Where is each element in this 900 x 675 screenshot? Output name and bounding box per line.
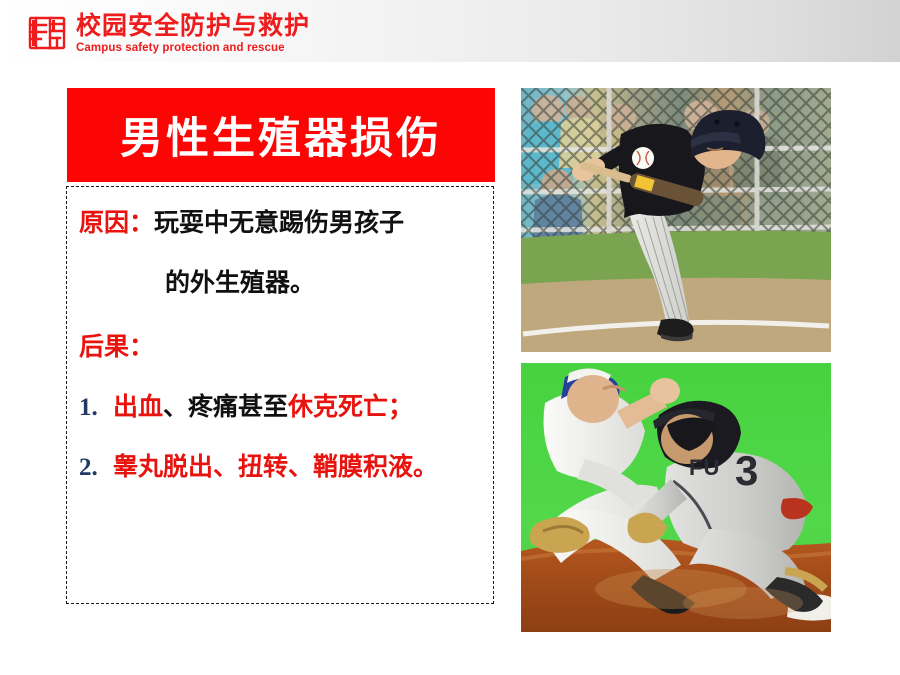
consequence-line: 后果： bbox=[79, 333, 483, 363]
consequence-item-2: 2.睾丸脱出、扭转、鞘膜积液。 bbox=[79, 453, 483, 483]
slide-title: 男性生殖器损伤 bbox=[120, 104, 442, 166]
cause-line-2: 的外生殖器。 bbox=[79, 269, 483, 299]
brand-text-block: 校园安全防护与救护 Campus safety protection and r… bbox=[76, 12, 310, 55]
spacer-3 bbox=[79, 363, 483, 393]
cause-line-1: 原因：玩耍中无意踢伤男孩子 bbox=[79, 209, 483, 239]
svg-text:FU: FU bbox=[689, 455, 720, 480]
spacer-2 bbox=[79, 299, 483, 333]
brand-title: 校园安全防护与救护 bbox=[76, 12, 310, 40]
brand-lockup: 校园安全防护与救护 Campus safety protection and r… bbox=[26, 12, 310, 55]
spacer-4 bbox=[79, 423, 483, 453]
item-2-segment-1: 睾丸脱出、扭转、鞘膜积液。 bbox=[113, 454, 438, 481]
item-1-segment-1: 出血 bbox=[113, 394, 163, 421]
spacer-1 bbox=[79, 239, 483, 269]
body-text-lines: 原因：玩耍中无意踢伤男孩子 的外生殖器。 后果： 1.出血、疼痛甚至休克死亡； … bbox=[79, 209, 483, 483]
photo-baseball-batter-swinging bbox=[521, 88, 831, 352]
item-1-segment-2: 、疼痛甚至 bbox=[163, 394, 288, 421]
cause-text-line-1: 玩耍中无意踢伤男孩子 bbox=[154, 210, 404, 237]
svg-text:3: 3 bbox=[735, 447, 758, 494]
consequence-label: 后果： bbox=[79, 334, 154, 361]
brand-subtitle: Campus safety protection and rescue bbox=[76, 41, 310, 55]
consequence-item-1: 1.出血、疼痛甚至休克死亡； bbox=[79, 393, 483, 423]
item-2-number: 2. bbox=[79, 453, 113, 483]
cause-label: 原因： bbox=[79, 210, 154, 237]
photo-baseball-collision-at-base: FU 3 bbox=[521, 363, 831, 632]
item-1-segment-3: 休克死亡； bbox=[288, 394, 413, 421]
header-bar: 校园安全防护与救护 Campus safety protection and r… bbox=[0, 0, 900, 62]
cause-text-line-2: 的外生殖器。 bbox=[165, 270, 315, 297]
slide-title-banner: 男性生殖器损伤 bbox=[67, 88, 495, 182]
body-text-box: 原因：玩耍中无意踢伤男孩子 的外生殖器。 后果： 1.出血、疼痛甚至休克死亡； … bbox=[66, 186, 494, 604]
campus-safety-seal-emblem-icon bbox=[26, 12, 68, 54]
item-1-number: 1. bbox=[79, 393, 113, 423]
